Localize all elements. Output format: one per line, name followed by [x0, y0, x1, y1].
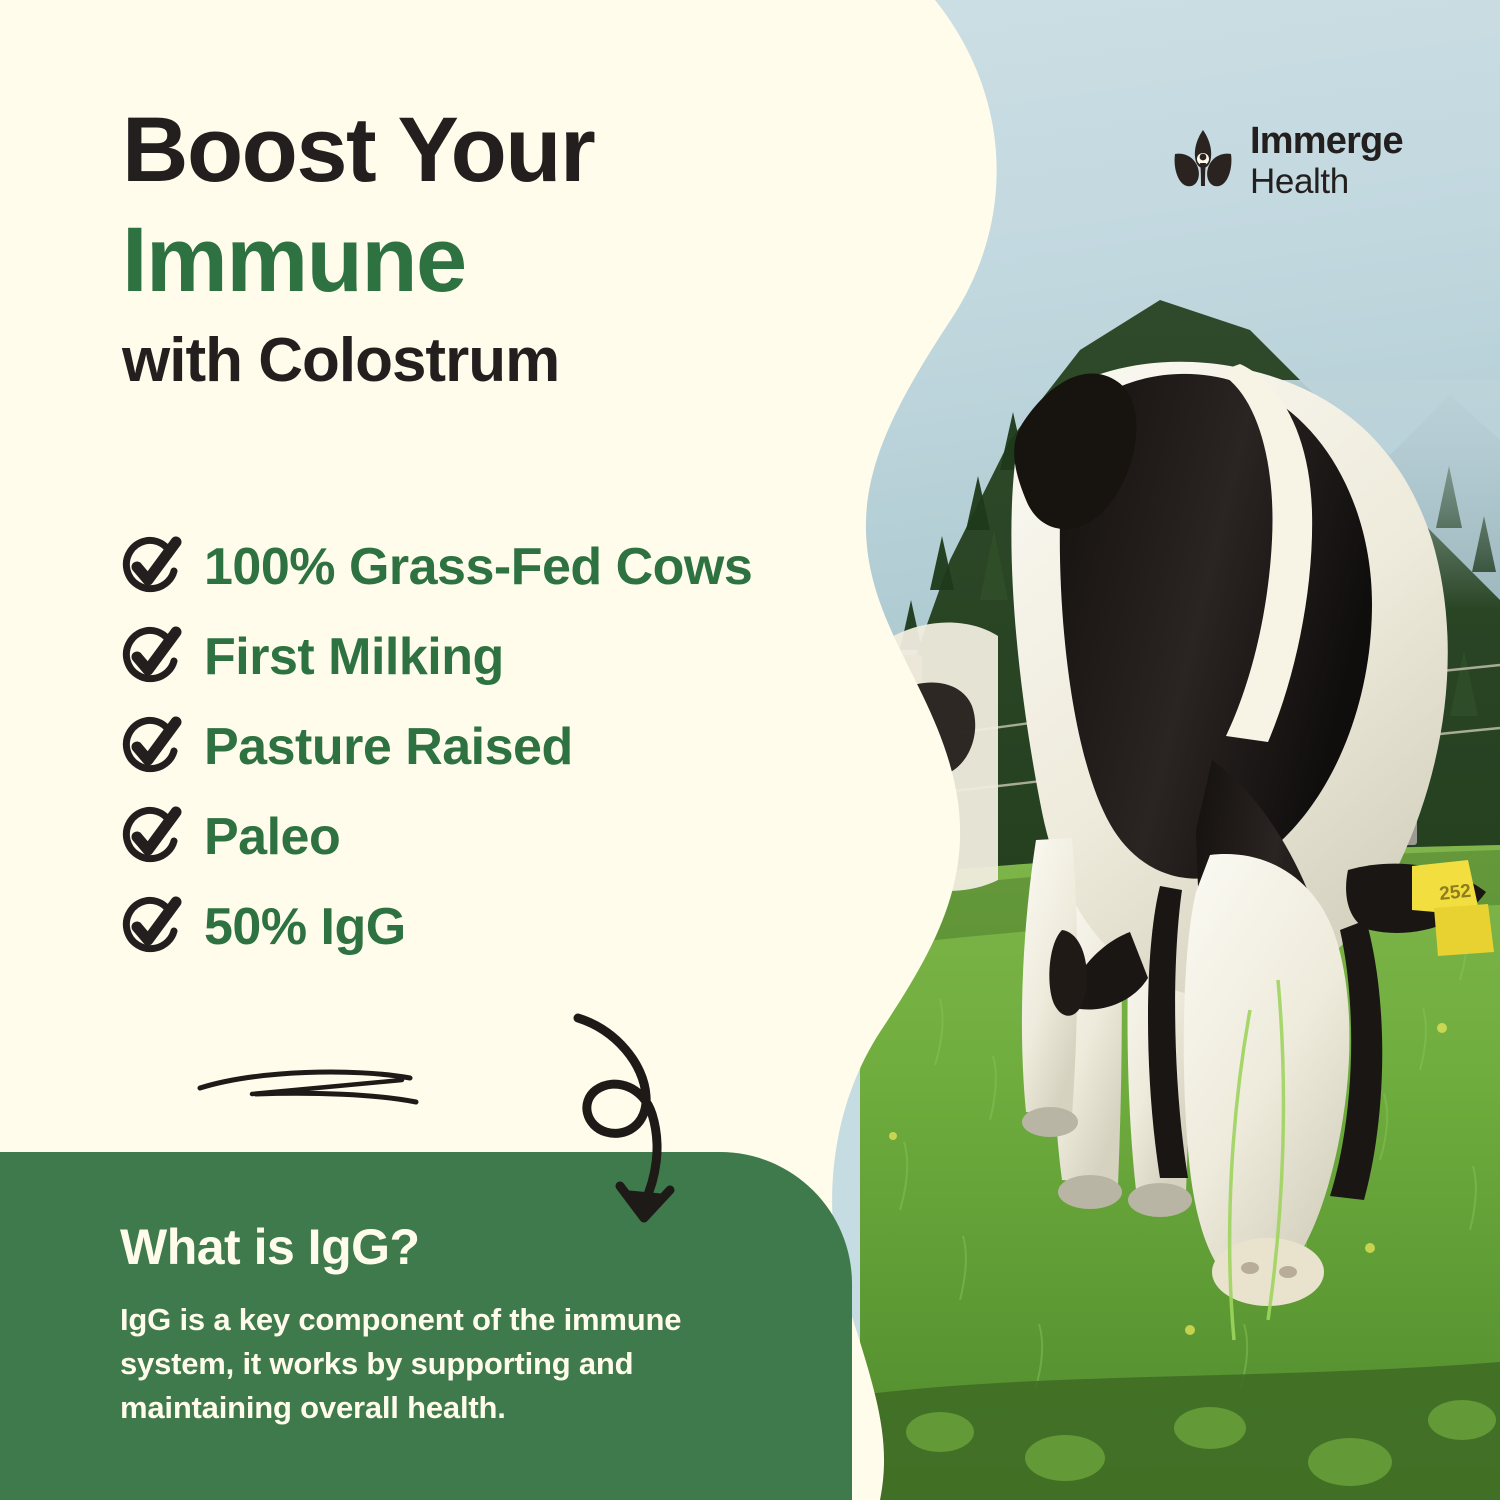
- list-item-label: 100% Grass-Fed Cows: [204, 536, 752, 595]
- infographic-canvas: 252: [0, 0, 1500, 1500]
- brand-name-primary: Immerge: [1250, 122, 1403, 160]
- list-item: First Milking: [112, 626, 812, 698]
- brand-logo[interactable]: Immerge Health: [1172, 122, 1403, 199]
- check-circle-icon: [112, 626, 190, 698]
- headline-line-1: Boost Your: [122, 104, 822, 196]
- headline-line-2: Immune: [122, 214, 822, 306]
- brand-name-secondary: Health: [1250, 164, 1403, 199]
- list-item-label: 50% IgG: [204, 896, 406, 955]
- curly-down-arrow-icon: [520, 1010, 700, 1230]
- svg-text:252: 252: [1438, 881, 1472, 905]
- igg-card-body: IgG is a key component of the immune sys…: [120, 1298, 780, 1430]
- list-item: 50% IgG: [112, 896, 812, 968]
- list-item-label: First Milking: [204, 626, 504, 685]
- headline-line-3: with Colostrum: [122, 330, 822, 392]
- check-circle-icon: [112, 806, 190, 878]
- brand-wordmark: Immerge Health: [1250, 122, 1403, 199]
- list-item: 100% Grass-Fed Cows: [112, 536, 812, 608]
- left-content-column: Boost Your Immune with Colostrum 100% Gr…: [0, 0, 860, 1500]
- check-circle-icon: [112, 536, 190, 608]
- hand-drawn-underline-icon: [196, 1062, 476, 1114]
- lotus-person-icon: [1172, 128, 1234, 194]
- list-item: Pasture Raised: [112, 716, 812, 788]
- page-title: Boost Your Immune with Colostrum: [122, 104, 822, 392]
- igg-card-title: What is IgG?: [120, 1218, 780, 1276]
- list-item: Paleo: [112, 806, 812, 878]
- list-item-label: Paleo: [204, 806, 340, 865]
- check-circle-icon: [112, 896, 190, 968]
- list-item-label: Pasture Raised: [204, 716, 573, 775]
- igg-card-content: What is IgG? IgG is a key component of t…: [120, 1218, 780, 1430]
- feature-list: 100% Grass-Fed Cows First Milking: [112, 536, 812, 986]
- check-circle-icon: [112, 716, 190, 788]
